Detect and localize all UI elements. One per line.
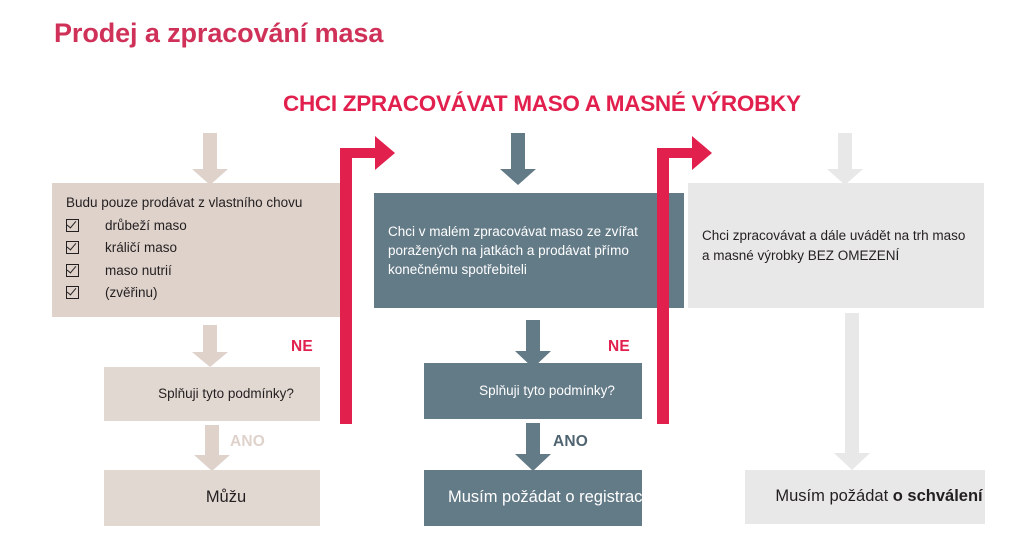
result-box-own-breeding[interactable]: Můžu [104,470,320,526]
banner-title: CHCI ZPRACOVÁVAT MASO A MASNÉ VÝROBKY [283,91,801,117]
list-item[interactable]: (zvěřinu) [66,286,350,300]
result-box-small-scale[interactable]: Musím požádat o registraci [424,470,642,526]
result-box-label: Můžu [104,486,348,509]
checkbox-checked-icon[interactable] [66,219,79,232]
option-box-small-scale[interactable]: Chci v malém zpracovávat maso ze zvířat … [374,193,684,308]
option-box-unlimited[interactable]: Chci zpracovávat a dále uvádět na trh ma… [688,183,984,308]
decision-box-small-scale[interactable]: Splňuji tyto podmínky? [424,363,642,419]
decision-box-label: Splňuji tyto podmínky? [424,381,670,400]
checkbox-checked-icon[interactable] [66,264,79,277]
list-item[interactable]: drůbeží maso [66,219,350,233]
list-item-label: králičí maso [105,241,177,255]
option-box-heading: Chci v malém zpracovávat maso ze zvířat … [374,222,684,279]
list-item-label: drůbeží maso [105,219,187,233]
decision-box-own-breeding[interactable]: Splňuji tyto podmínky? [104,367,320,421]
list-item[interactable]: králičí maso [66,241,350,255]
no-label-left: NE [291,338,313,356]
result-box-label-emphasis: o schválení [893,487,983,505]
down-arrow-teal-icon [498,133,538,185]
list-item[interactable]: maso nutrií [66,264,350,278]
down-arrow-gray-icon [825,133,865,185]
result-box-label-wrapper: Musím požádat o schválení [745,485,1013,508]
option-box-heading: Budu pouze prodávat z vlastního chovu [52,191,350,212]
option-box-own-breeding[interactable]: Budu pouze prodávat z vlastního chovu dr… [52,183,350,317]
down-arrow-teal-to-result-icon [513,423,553,471]
down-arrow-beige-icon [190,133,230,185]
down-arrow-gray-long-icon [832,313,872,471]
checkbox-list: drůbeží maso králičí maso maso nutrií (z… [52,219,350,309]
down-arrow-teal-to-decision-icon [513,320,553,368]
down-arrow-beige-to-result-icon [192,425,232,471]
list-item-label: maso nutrií [105,264,172,278]
result-box-label: Musím požádat o registraci [424,486,670,509]
yes-label-right: ANO [553,433,588,451]
yes-label-left: ANO [230,433,265,451]
down-arrow-beige-to-decision-icon [190,325,230,367]
red-elbow-arrow-left [327,134,397,424]
page-title: Prodej a zpracování masa [54,18,383,49]
no-label-right: NE [608,338,630,356]
option-box-heading: Chci zpracovávat a dále uvádět na trh ma… [688,226,984,264]
list-item-label: (zvěřinu) [105,286,158,300]
result-box-label: Musím požádat [775,487,892,505]
infographic-canvas: Prodej a zpracování masa CHCI ZPRACOVÁVA… [0,0,1024,553]
decision-box-label: Splňuji tyto podmínky? [104,384,348,403]
checkbox-checked-icon[interactable] [66,241,79,254]
result-box-unlimited[interactable]: Musím požádat o schválení [745,470,985,524]
checkbox-checked-icon[interactable] [66,286,79,299]
